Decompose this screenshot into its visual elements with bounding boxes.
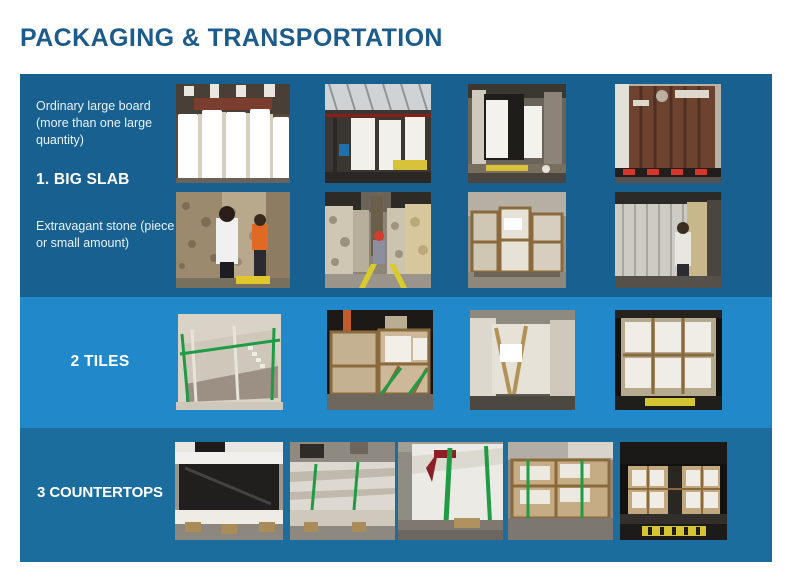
photo-warehouse-slab-aisle[interactable] [325, 192, 431, 288]
photo-wooden-crates-tiles[interactable] [327, 310, 433, 410]
photo-white-slab-bundles-warehouse[interactable] [176, 84, 290, 183]
page-title: PACKAGING & TRANSPORTATION [20, 24, 443, 53]
photo-wooden-crated-countertops[interactable] [508, 442, 613, 540]
label-big-slab-heading: 1. BIG SLAB [36, 171, 181, 189]
label-extravagant-stone: Extravagant stone (piece or small amount… [36, 218, 176, 252]
photo-container-interior-slabs[interactable] [468, 84, 566, 183]
countertops-label-column: 3 COUNTERTOPS [20, 428, 176, 562]
photo-workers-inspecting-granite-slab[interactable] [176, 192, 290, 288]
photo-countertop-crates-in-container[interactable] [620, 442, 727, 540]
photo-strapped-white-wrapped-bundle[interactable] [398, 442, 503, 540]
photo-tiles-loaded-in-container[interactable] [615, 310, 722, 410]
label-tiles-heading: 2 TILES [20, 353, 180, 371]
section-countertops: 3 COUNTERTOPS [20, 428, 772, 562]
big-slab-label-column: Ordinary large board (more than one larg… [20, 74, 176, 297]
photo-slabs-loading-into-container[interactable] [325, 84, 431, 183]
packaging-panel: Ordinary large board (more than one larg… [20, 74, 772, 562]
section-tiles: 2 TILES [20, 297, 772, 428]
photo-worker-inside-container[interactable] [615, 192, 721, 288]
photo-loaded-container-on-truck[interactable] [615, 84, 721, 183]
label-countertops-heading: 3 COUNTERTOPS [20, 484, 180, 501]
label-ordinary-large-board: Ordinary large board (more than one larg… [36, 98, 176, 149]
photo-strapped-tile-bundle[interactable] [176, 310, 283, 410]
photo-wrapped-countertops-stack[interactable] [290, 442, 395, 540]
tiles-label-column: 2 TILES [20, 297, 176, 428]
photo-crated-slab-bundles[interactable] [468, 192, 566, 288]
section-big-slab: Ordinary large board (more than one larg… [20, 74, 772, 297]
photo-wrapped-tile-crate[interactable] [470, 310, 575, 410]
photo-black-countertop-on-pallet[interactable] [175, 442, 283, 540]
